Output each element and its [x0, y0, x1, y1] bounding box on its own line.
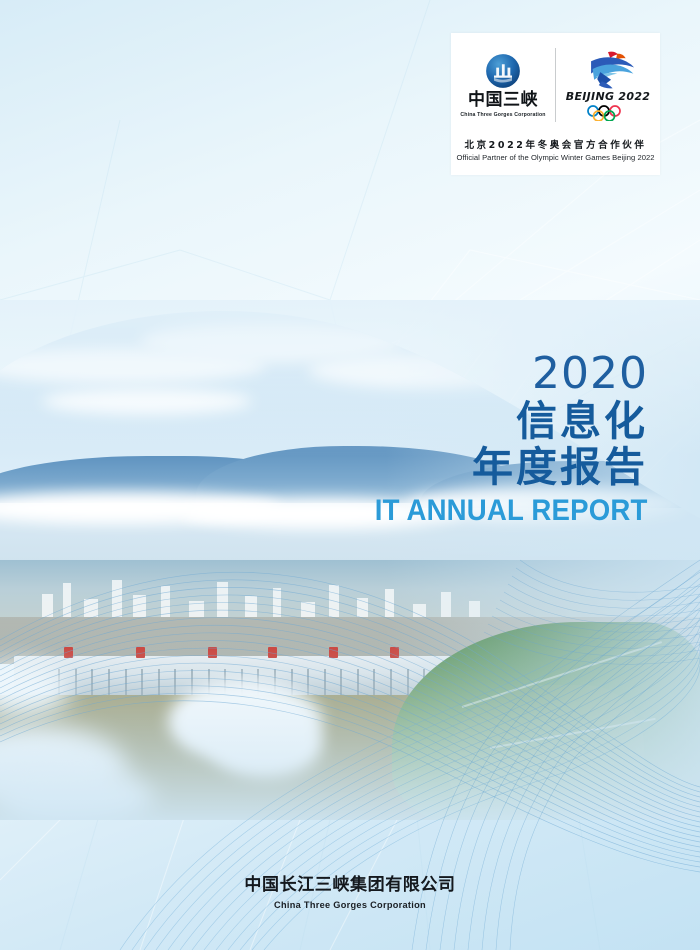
- dam-gantry-crane: [64, 647, 73, 658]
- title-english: IT ANNUAL REPORT: [375, 495, 648, 527]
- title-chinese-line-2: 年度报告: [351, 445, 648, 491]
- beijing-2022-logo-group: BEIJING 2022: [556, 49, 660, 121]
- partner-statement-english: Official Partner of the Olympic Winter G…: [451, 153, 660, 162]
- report-cover-page: 中国三峡 China Three Gorges Corporation BEIJ…: [0, 0, 700, 950]
- dam-gantry-crane: [208, 647, 217, 658]
- report-year: 2020: [351, 352, 648, 397]
- dam-gantry-crane: [329, 647, 338, 658]
- publisher-name-english: China Three Gorges Corporation: [0, 900, 700, 910]
- ctg-chinese-name: 中国三峡: [468, 92, 538, 109]
- dam-gantry-crane: [390, 647, 399, 658]
- partnership-logo-card: 中国三峡 China Three Gorges Corporation BEIJ…: [451, 33, 660, 175]
- ctg-dam-emblem-icon: [485, 53, 521, 89]
- dam-gantry-crane: [268, 647, 277, 658]
- beijing-2022-wordmark: BEIJING 2022: [566, 90, 650, 103]
- cover-title-block: 2020 信息化 年度报告 IT ANNUAL REPORT: [351, 352, 648, 526]
- partner-statement-chinese: 北京2022年冬奥会官方合作伙伴: [451, 137, 660, 151]
- publisher-footer: 中国长江三峡集团有限公司 China Three Gorges Corporat…: [0, 876, 700, 910]
- olympic-rings-icon: [585, 105, 631, 121]
- ctg-logo-group: 中国三峡 China Three Gorges Corporation: [451, 53, 555, 118]
- dam-gantry-crane: [136, 647, 145, 658]
- publisher-name-chinese: 中国长江三峡集团有限公司: [0, 876, 700, 895]
- title-chinese-line-1: 信息化: [351, 399, 648, 445]
- photo-green-island: [448, 685, 644, 820]
- ctg-english-name: China Three Gorges Corporation: [460, 112, 545, 118]
- beijing-2022-winter-olympics-emblem-icon: [577, 49, 639, 89]
